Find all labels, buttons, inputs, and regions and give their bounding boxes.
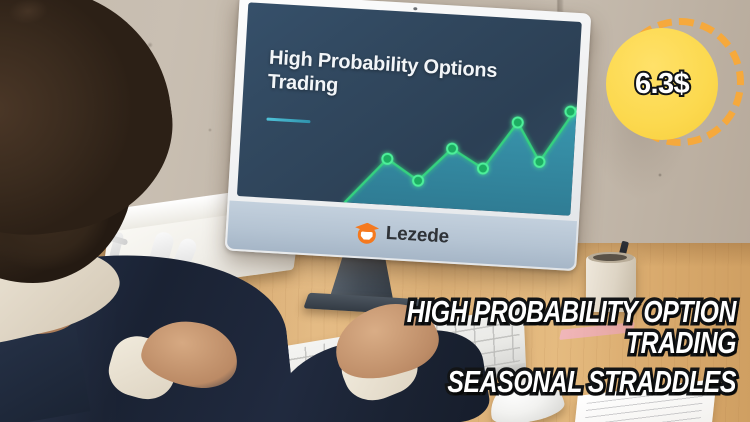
- price-badge: 6.3$: [606, 12, 746, 148]
- badge-price-text: 6.3$: [635, 70, 689, 99]
- badge-circle: 6.3$: [606, 28, 718, 140]
- headline-overlay: HIGH PROBABILITY OPTION TRADING SEASONAL…: [266, 296, 736, 397]
- hair: [0, 0, 186, 251]
- headline-line-2: SEASONAL STRADDLES: [360, 366, 736, 397]
- thumbnail-canvas: High Probability Options Trading Lezede: [0, 0, 750, 422]
- headline-line-1: HIGH PROBABILITY OPTION TRADING: [360, 296, 736, 358]
- webcam-icon: [413, 7, 417, 10]
- brand-name: Lezede: [385, 223, 449, 249]
